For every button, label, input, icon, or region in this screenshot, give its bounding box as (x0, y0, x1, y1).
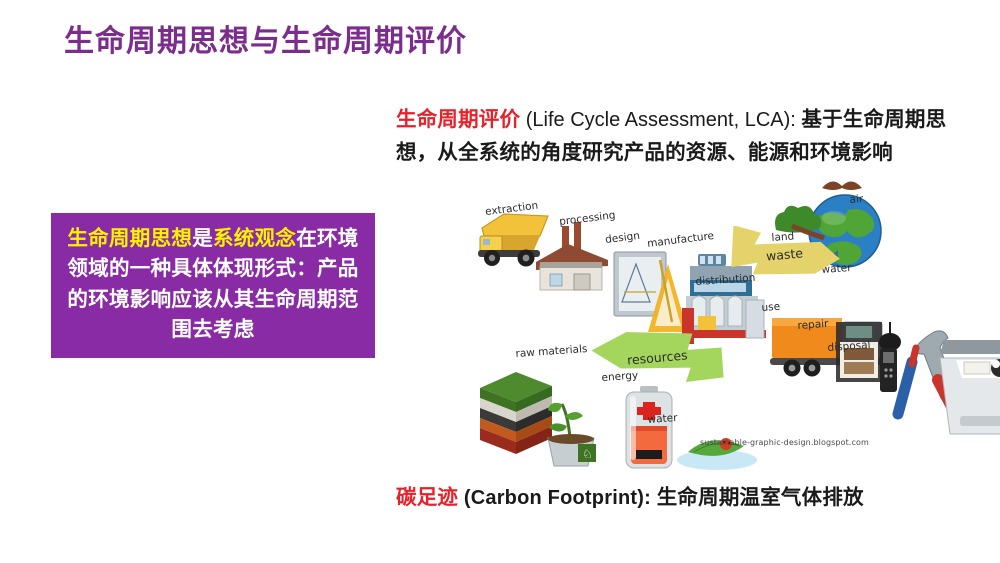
lca-term: 生命周期评价 (396, 108, 520, 131)
processing-plant-icon (530, 218, 618, 296)
lca-definition: 生命周期评价 (Life Cycle Assessment, LCA): 基于生… (396, 103, 984, 170)
water-leaf-icon (674, 424, 760, 472)
waste-arrow: waste (724, 226, 844, 282)
resources-arrow: resources (584, 326, 730, 388)
carbon-footprint-term-english: (Carbon Footprint): (458, 487, 657, 509)
page-title: 生命周期思想与生命周期评价 (64, 24, 467, 60)
lifecycle-diagram: ♘ (468, 176, 930, 461)
carbon-footprint-body: 生命周期温室气体排放 (657, 486, 864, 509)
potted-plant-icon: ♘ (534, 382, 608, 468)
input-label-water: water (647, 412, 678, 426)
carbon-footprint-term: 碳足迹 (396, 486, 458, 509)
callout-highlight-2: 系统观念 (213, 227, 296, 250)
trash-bin-icon (934, 338, 1000, 438)
carbon-footprint-definition: 碳足迹 (Carbon Footprint): 生命周期温室气体排放 (396, 480, 864, 510)
figure-credit: sustainable-graphic-design.blogspot.com (700, 438, 869, 447)
input-label-raw-materials: raw materials (515, 343, 588, 360)
lifecycle-thinking-callout: 生命周期思想是系统观念在环境领域的一种具体体现形式：产品的环境影响应该从其生命周… (51, 213, 375, 358)
battery-icon (618, 384, 680, 472)
waste-arrow-label: waste (765, 245, 803, 263)
lca-term-english: (Life Cycle Assessment, LCA): (520, 109, 801, 131)
callout-highlight-1: 生命周期思想 (67, 227, 192, 250)
callout-text: 生命周期思想是系统观念在环境领域的一种具体体现形式：产品的环境影响应该从其生命周… (63, 224, 363, 345)
callout-plain-1: 是 (192, 227, 213, 250)
output-label-air: air (849, 193, 863, 206)
stage-label-use: use (761, 301, 780, 314)
stage-label-repair: repair (797, 318, 829, 332)
svg-text:♘: ♘ (582, 447, 593, 461)
